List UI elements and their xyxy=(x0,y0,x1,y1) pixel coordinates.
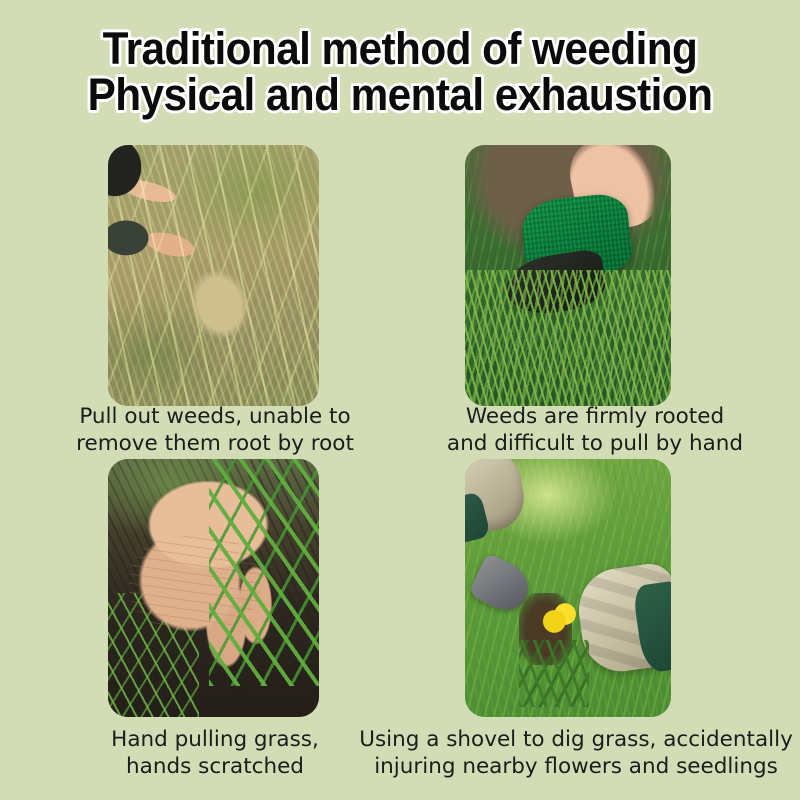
photo-top-left xyxy=(108,145,319,406)
dandelion-flower xyxy=(539,596,584,637)
title-line-1: Traditional method of weeding xyxy=(24,26,776,72)
caption-bottom-right: Using a shovel to dig grass, accidentall… xyxy=(352,727,800,780)
photo-bottom-right xyxy=(465,459,671,717)
photo-bottom-left xyxy=(108,459,319,717)
photo-top-left-scene xyxy=(108,145,319,406)
pulled-grass-blades xyxy=(209,459,319,686)
photo-top-right-scene xyxy=(465,145,671,406)
grass-blades xyxy=(465,270,671,406)
poster-canvas: Traditional method of weeding Physical a… xyxy=(0,0,800,800)
poster-title: Traditional method of weeding Physical a… xyxy=(0,26,800,118)
dandelion-leaves xyxy=(519,640,589,707)
photo-bottom-right-scene xyxy=(465,459,671,717)
caption-top-right: Weeds are firmly rooted and difficult to… xyxy=(400,404,790,457)
title-line-2: Physical and mental exhaustion xyxy=(24,72,776,118)
photo-top-right xyxy=(465,145,671,406)
caption-top-left: Pull out weeds, unable to remove them ro… xyxy=(20,404,410,457)
photo-bottom-left-scene xyxy=(108,459,319,717)
